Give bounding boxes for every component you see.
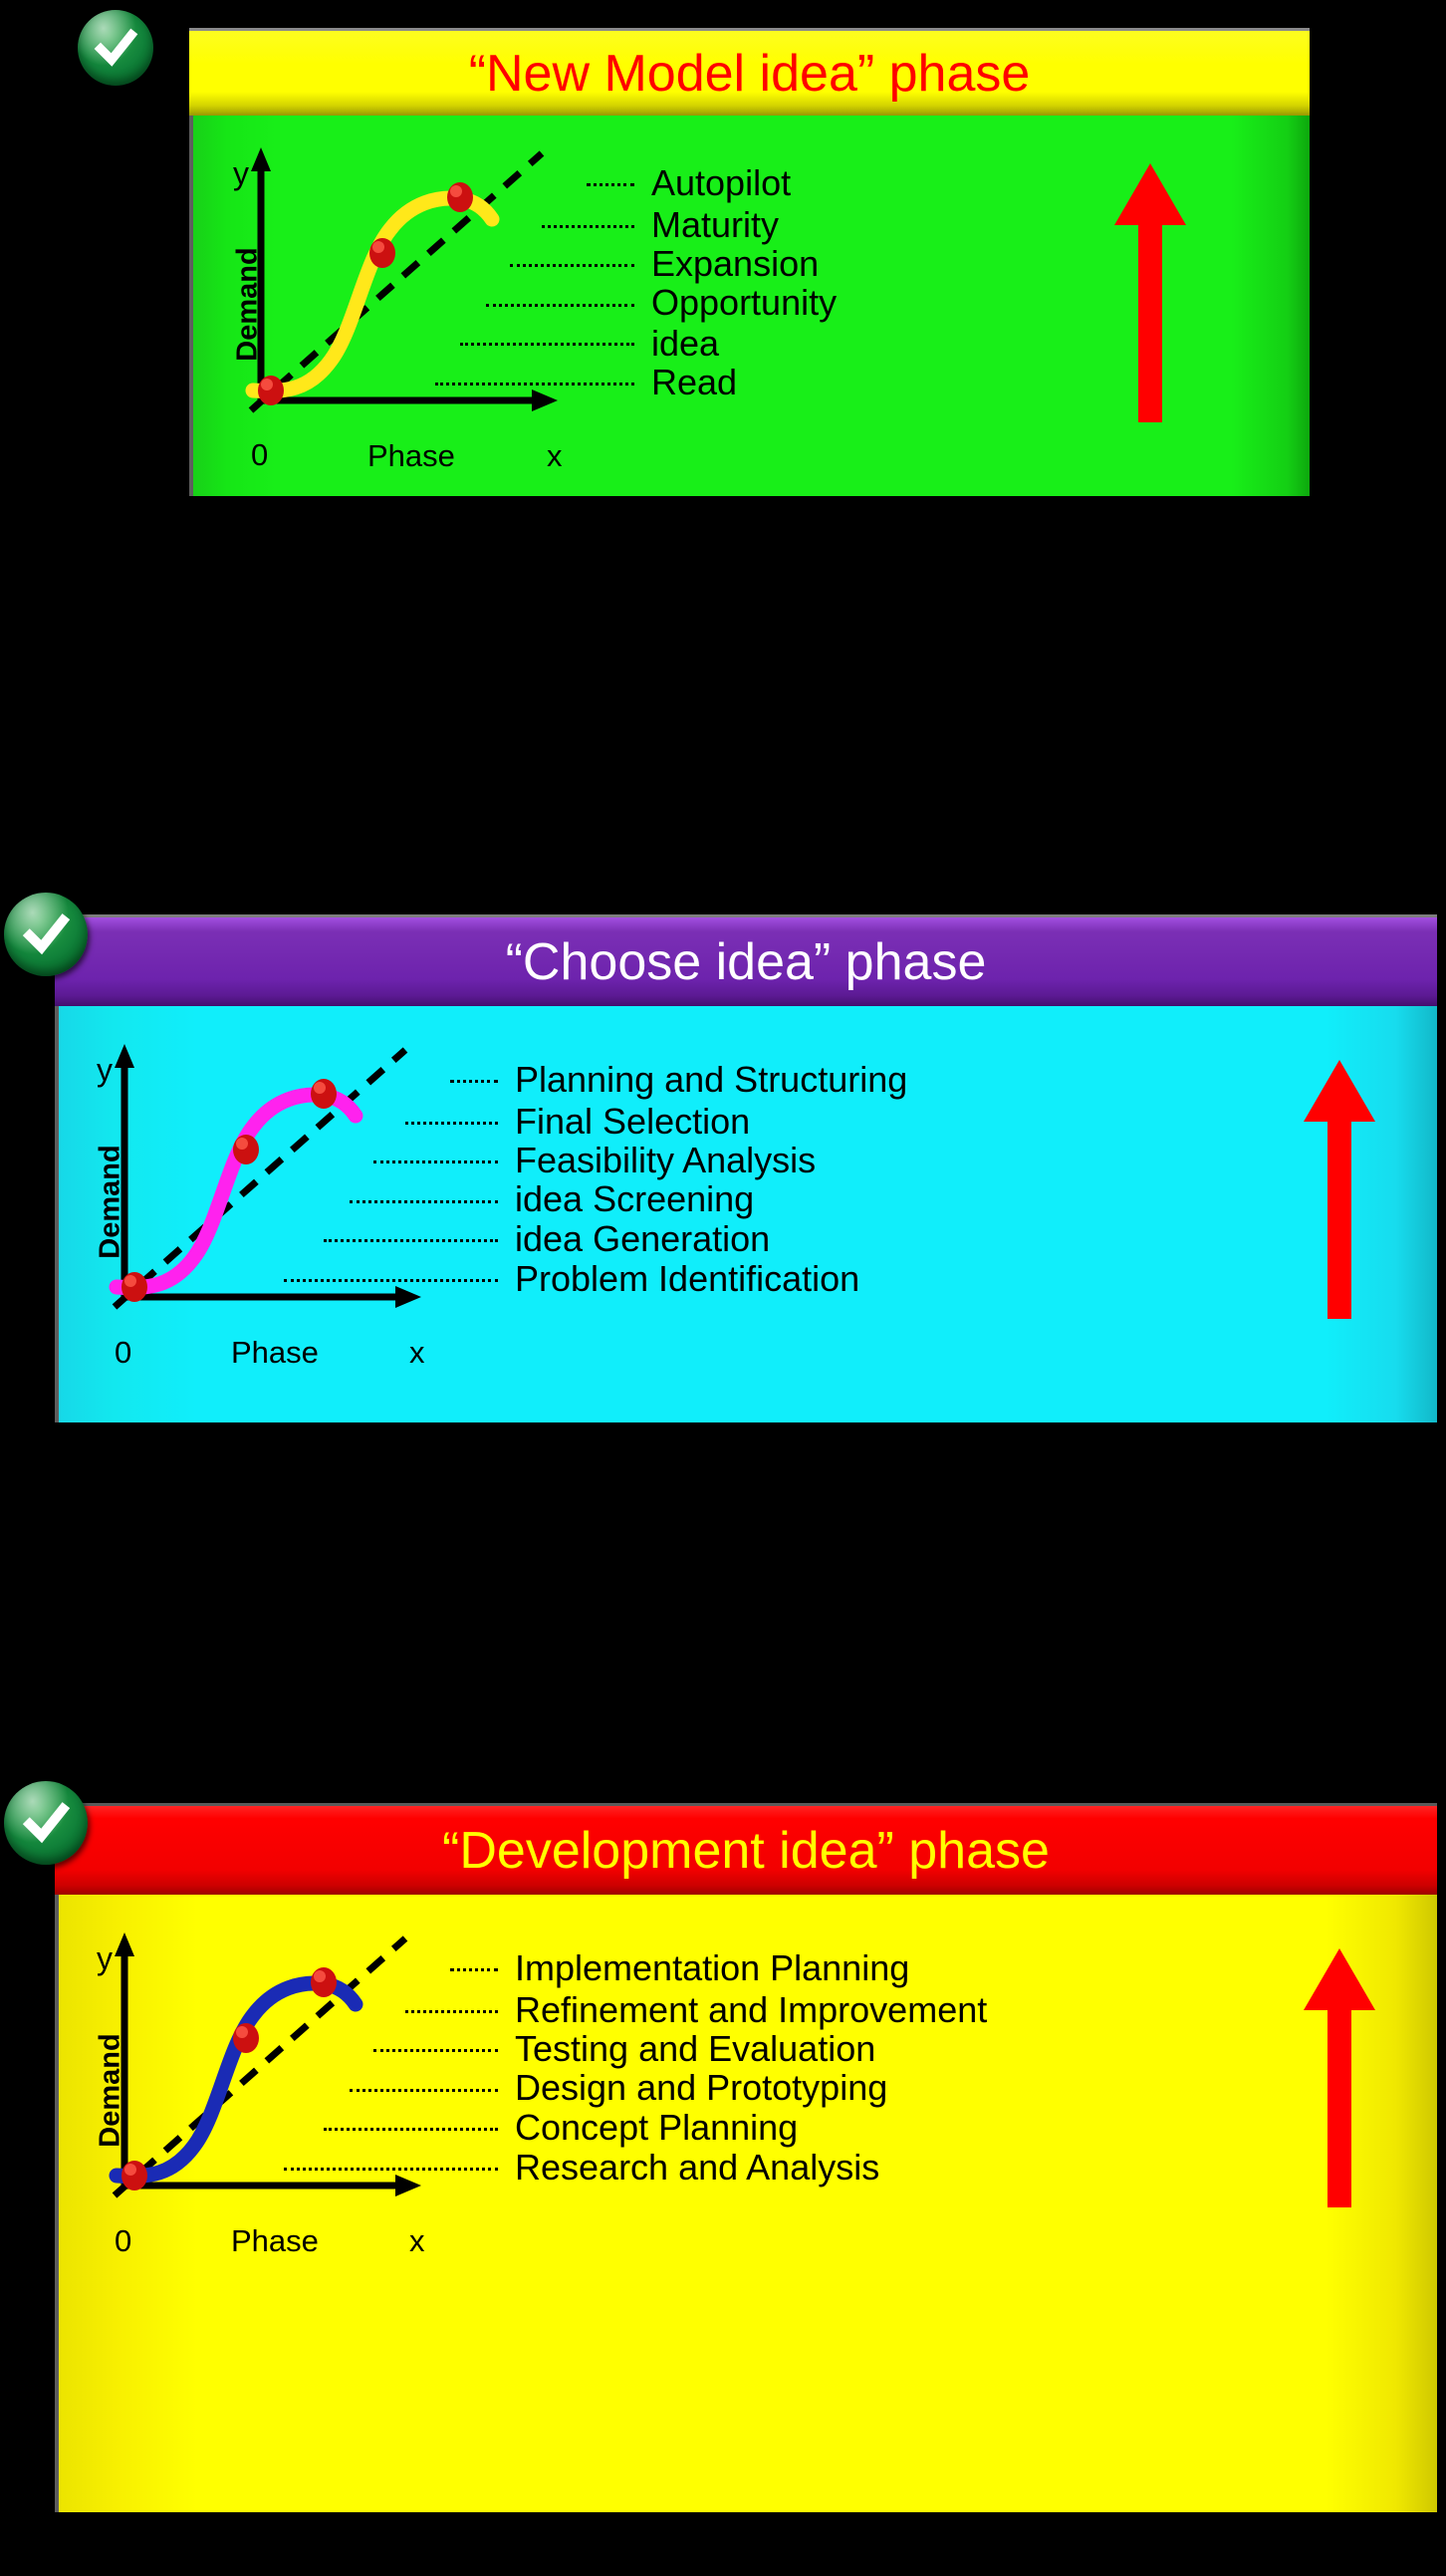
panel-2-leader-5 [284, 1279, 498, 1282]
check-icon [20, 908, 72, 960]
panel-2-stage-2: Feasibility Analysis [515, 1143, 816, 1178]
panel-3-leader-2 [373, 2049, 498, 2052]
chart-svg-2 [77, 1030, 535, 1329]
up-arrow-svg-2 [1304, 1060, 1375, 1319]
panel-3-check-badge-icon [4, 1781, 88, 1865]
panel-3-stage-3: Design and Prototyping [515, 2070, 887, 2106]
panel-1-title-bar: “New Model idea” phase [189, 28, 1310, 116]
panel-1-up-arrow-icon [1114, 163, 1186, 422]
panel-1-body: y Demand 0 Phase x Autopilot Maturity Ex… [189, 116, 1310, 496]
panel-new-model-idea[interactable]: “New Model idea” phase [189, 28, 1310, 496]
marker-2-mid [233, 1135, 259, 1164]
trendline-1 [251, 153, 542, 410]
panel-3-leader-3 [350, 2089, 498, 2092]
marker-3-high [311, 1967, 337, 1997]
panel-3-leader-0 [450, 1968, 498, 1971]
up-arrow-svg-3 [1304, 1948, 1375, 2207]
panel-2-origin-label: 0 [115, 1337, 131, 1368]
trendline-3 [115, 1938, 405, 2195]
marker-2-high [311, 1079, 337, 1109]
panel-1-stage-4: idea [651, 326, 719, 362]
panel-3-leader-5 [284, 2168, 498, 2171]
panel-3-stage-1: Refinement and Improvement [515, 1992, 987, 2028]
panel-2-stage-4: idea Generation [515, 1221, 770, 1257]
panel-3-title-bar: “Development idea” phase [55, 1803, 1437, 1895]
marker-1-high [447, 182, 473, 212]
panel-2-stage-0: Planning and Structuring [515, 1062, 907, 1098]
panel-1-leader-0 [587, 183, 634, 186]
panel-1-stage-5: Read [651, 365, 737, 400]
panel-3-leader-1 [405, 2010, 498, 2013]
axes-2 [115, 1044, 421, 1308]
panel-choose-idea[interactable]: “Choose idea” phase [55, 914, 1437, 1422]
panel-2-leader-1 [405, 1122, 498, 1125]
chart-svg-3 [77, 1919, 535, 2217]
panel-2-up-arrow-icon [1304, 1060, 1375, 1319]
panel-3-stage-2: Testing and Evaluation [515, 2031, 875, 2067]
panel-2-stage-3: idea Screening [515, 1181, 754, 1217]
panel-3-title: “Development idea” phase [442, 1821, 1050, 1881]
trendline-2 [115, 1050, 405, 1307]
panel-2-title-bar: “Choose idea” phase [55, 914, 1437, 1006]
axes-1 [251, 147, 558, 411]
check-icon [20, 1797, 72, 1849]
panel-3-leader-4 [324, 2128, 498, 2131]
panel-1-stage-1: Maturity [651, 207, 779, 243]
panel-3-y-symbol: y [97, 1942, 113, 1974]
panel-3-stage-0: Implementation Planning [515, 1950, 909, 1986]
panel-1-leader-5 [435, 383, 634, 386]
panel-1-title: “New Model idea” phase [469, 44, 1031, 104]
panel-1-demand-label: Demand [234, 245, 263, 365]
panel-1-leader-4 [460, 343, 634, 346]
panel-2-title: “Choose idea” phase [506, 932, 987, 992]
panel-2-phase-label: Phase [231, 1337, 319, 1368]
marker-1-mid [369, 238, 395, 268]
panel-1-x-symbol: x [547, 440, 563, 471]
panel-3-stage-4: Concept Planning [515, 2110, 798, 2146]
panel-development-idea[interactable]: “Development idea” phase [55, 1803, 1437, 2512]
panel-3-up-arrow-icon [1304, 1948, 1375, 2207]
panel-2-leader-0 [450, 1080, 498, 1083]
panel-1-leader-2 [510, 264, 634, 267]
panel-1-leader-3 [486, 304, 634, 307]
marker-1-low [258, 376, 284, 405]
panel-2-stage-5: Problem Identification [515, 1261, 859, 1297]
panel-1-check-badge-icon [78, 10, 153, 86]
panel-3-stage-5: Research and Analysis [515, 2150, 879, 2186]
panel-3-phase-label: Phase [231, 2225, 319, 2256]
panel-1-leader-1 [542, 225, 634, 228]
panel-1-origin-label: 0 [251, 439, 268, 470]
panel-1-phase-label: Phase [367, 440, 455, 471]
panel-3-chart [77, 1919, 535, 2217]
panel-3-demand-label: Demand [97, 2031, 125, 2151]
panel-3-body: y Demand 0 Phase x Implementation Planni… [55, 1895, 1437, 2512]
chart-svg-1 [213, 133, 671, 432]
panel-1-y-symbol: y [233, 157, 249, 189]
panel-1-stage-2: Expansion [651, 246, 819, 282]
panel-2-check-badge-icon [4, 893, 88, 976]
marker-2-low [121, 1272, 147, 1302]
up-arrow-svg-1 [1114, 163, 1186, 422]
marker-3-mid [233, 2023, 259, 2053]
panel-2-x-symbol: x [409, 1337, 425, 1368]
check-icon [92, 24, 139, 72]
panel-1-stage-3: Opportunity [651, 285, 837, 321]
panel-1-stage-0: Autopilot [651, 165, 791, 201]
panel-2-stage-1: Final Selection [515, 1104, 750, 1140]
panel-3-x-symbol: x [409, 2225, 425, 2256]
panel-2-demand-label: Demand [97, 1143, 125, 1262]
panel-2-leader-3 [350, 1200, 498, 1203]
panel-3-origin-label: 0 [115, 2225, 131, 2256]
axes-3 [115, 1932, 421, 2196]
panel-2-y-symbol: y [97, 1054, 113, 1086]
panel-2-leader-2 [373, 1160, 498, 1163]
panel-2-leader-4 [324, 1239, 498, 1242]
panel-1-chart [213, 133, 671, 432]
panel-2-chart [77, 1030, 535, 1329]
marker-3-low [121, 2161, 147, 2190]
panel-2-body: y Demand 0 Phase x Planning and Structur… [55, 1006, 1437, 1422]
